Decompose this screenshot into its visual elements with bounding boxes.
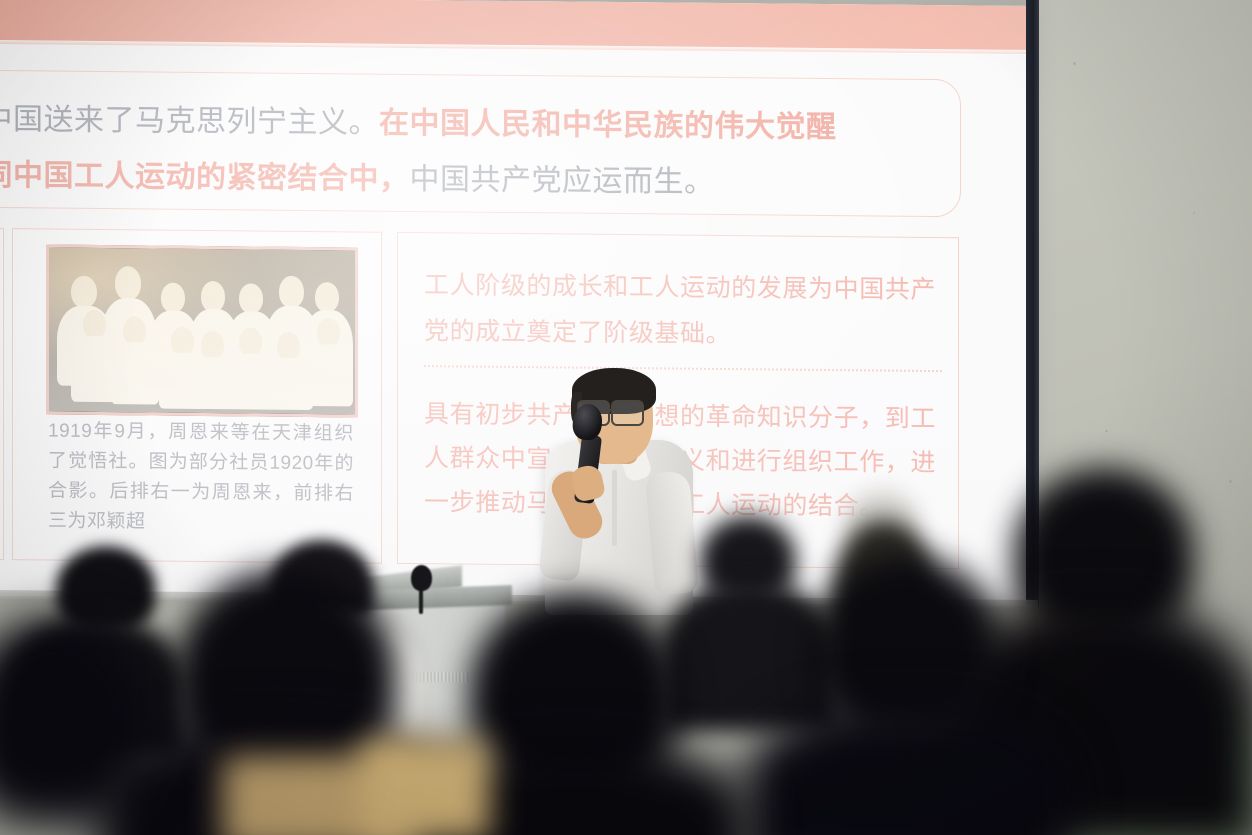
slide-top-paragraph: 给中国送来了马克思列宁主义。在中国人民和中华民族的伟大觉醒 义同中国工人运动的紧…: [0, 92, 952, 214]
gooseneck-microphone-head: [411, 565, 432, 591]
glasses-bridge: [605, 409, 613, 411]
chair-back: [360, 740, 490, 835]
top-line2-pink: 义同中国工人运动的紧密结合中，: [0, 159, 410, 196]
lecture-photo-stage: 给中国送来了马克思列宁主义。在中国人民和中华民族的伟大觉醒 义同中国工人运动的紧…: [0, 0, 1252, 835]
top-line1-pink: 在中国人民和中华民族的伟大觉醒: [379, 107, 837, 144]
top-line1-gray: 给中国送来了马克思列宁主义。: [0, 103, 379, 140]
photo-caption: 1919年9月，周恩来等在天津组织了觉悟社。图为部分社员1920年的合影。后排右…: [48, 417, 354, 540]
top-line2-gray: 中国共产党应运而生。: [410, 163, 715, 199]
speaker-shirt-placket: [612, 470, 617, 546]
slide-right-paragraph-1: 工人阶级的成长和工人运动的发展为中国共产党的成立奠定了阶级基础。: [424, 262, 944, 359]
slide-left-card-stub: [0, 228, 4, 561]
historical-group-photo: [46, 244, 358, 417]
glasses-right-lens: [611, 400, 644, 426]
